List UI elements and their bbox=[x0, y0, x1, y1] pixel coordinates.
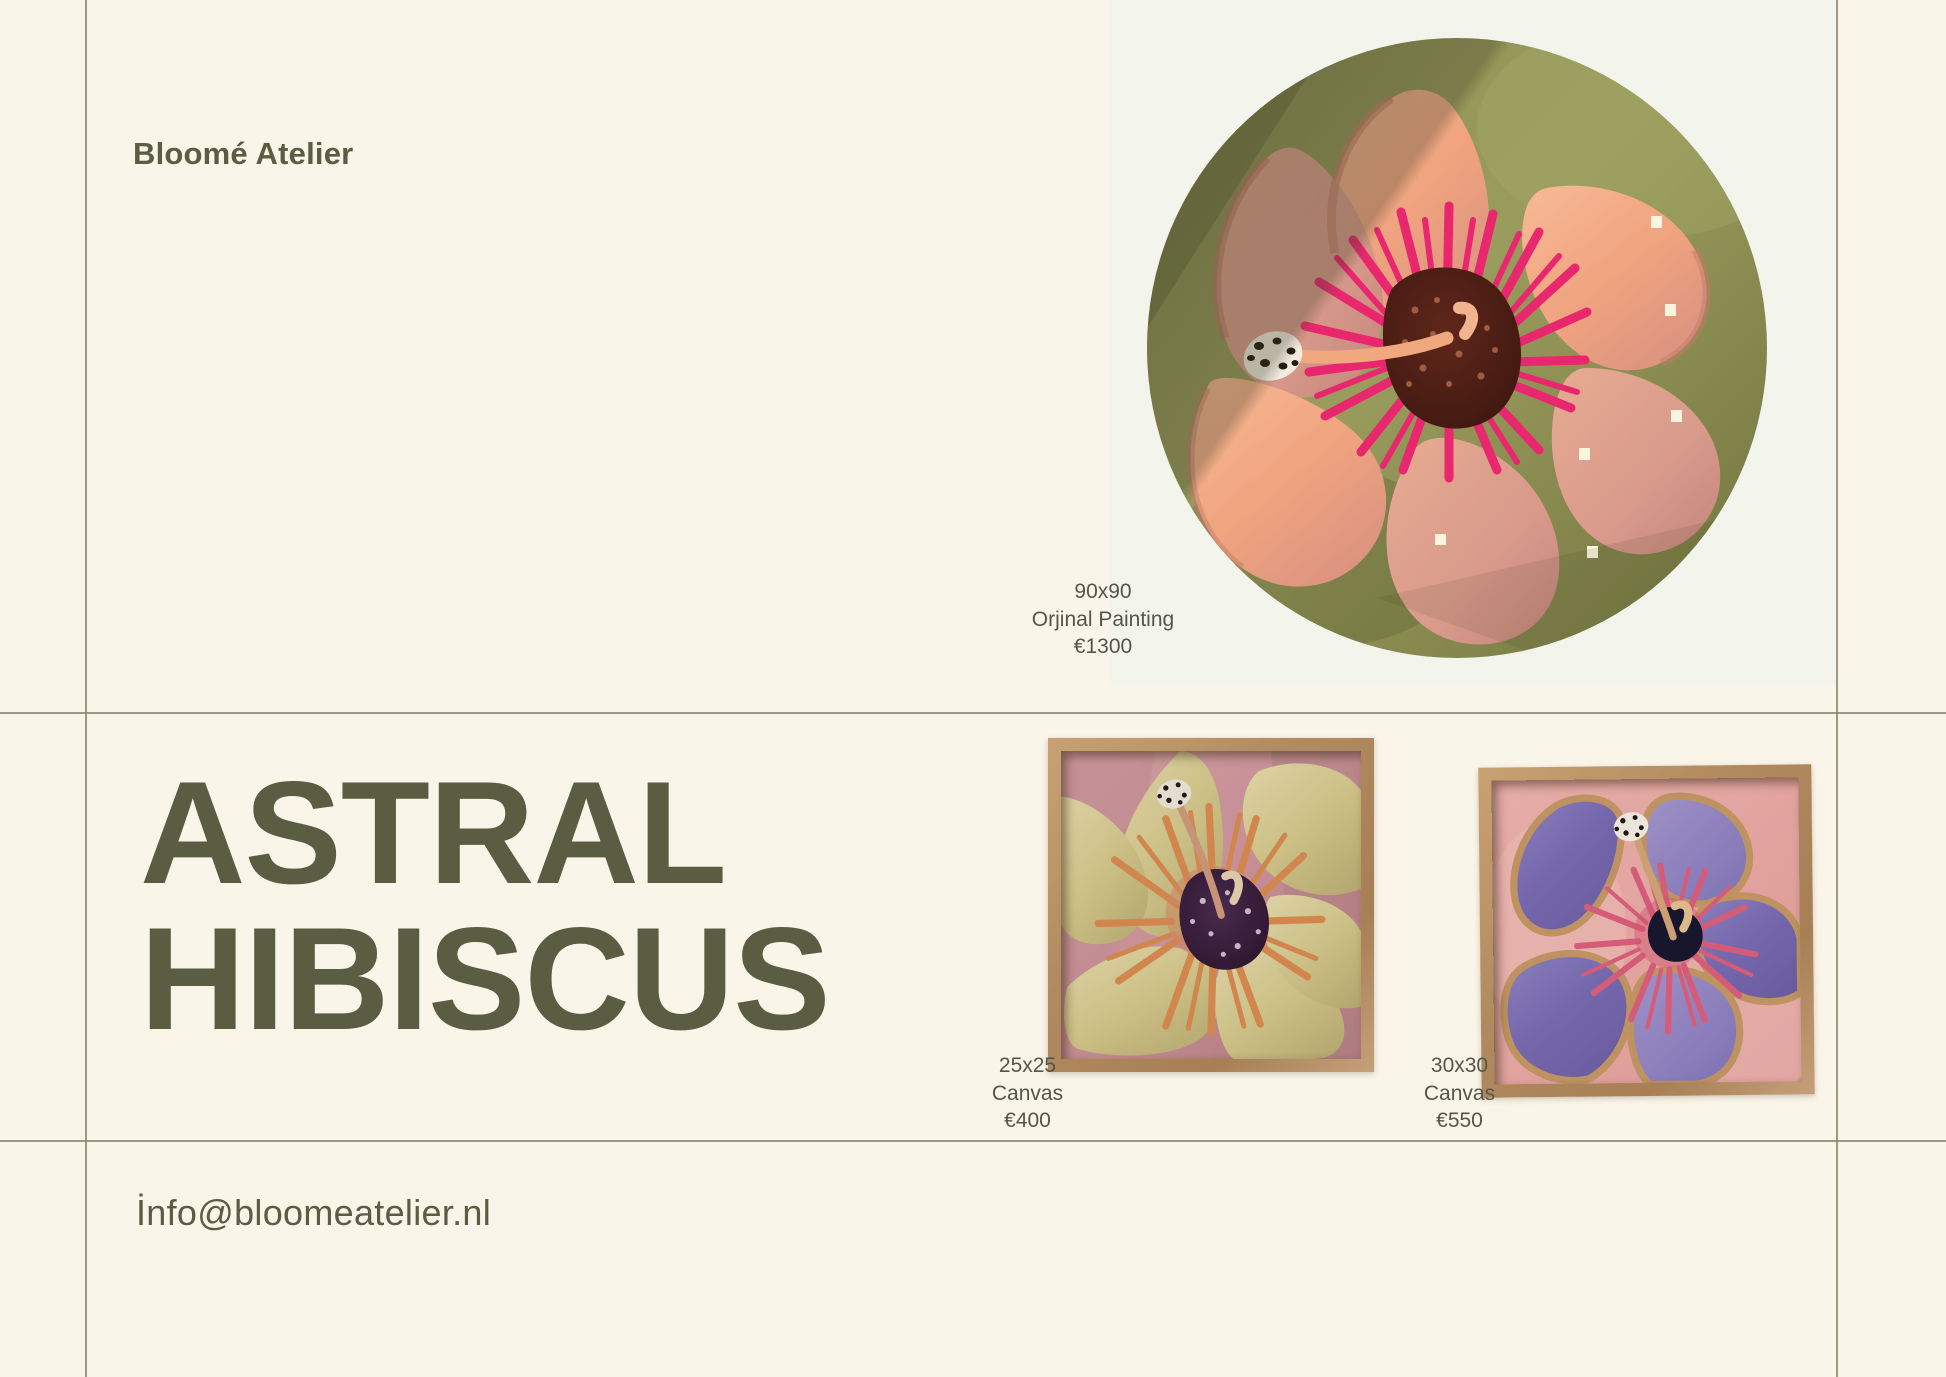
caption-medium-artwork: 30x30 Canvas €550 bbox=[1382, 1052, 1537, 1135]
page-title: ASTRAL HIBISCUS bbox=[140, 760, 830, 1052]
grid-rule-horizontal-bottom bbox=[0, 1140, 1946, 1142]
brand-name: Bloomé Atelier bbox=[133, 136, 353, 172]
caption-small-artwork: 25x25 Canvas €400 bbox=[950, 1052, 1105, 1135]
caption-medium: Canvas bbox=[950, 1080, 1105, 1108]
page-title-line-2: HIBISCUS bbox=[140, 906, 830, 1052]
caption-price: €400 bbox=[950, 1107, 1105, 1135]
cream-hibiscus-illustration bbox=[1061, 751, 1361, 1059]
poster-canvas: Bloomé Atelier bbox=[0, 0, 1946, 1377]
caption-size: 25x25 bbox=[950, 1052, 1105, 1080]
grid-rule-vertical-left bbox=[85, 0, 87, 1377]
contact-email[interactable]: İnfo@bloomeatelier.nl bbox=[136, 1192, 491, 1234]
caption-size: 30x30 bbox=[1382, 1052, 1537, 1080]
caption-size: 90x90 bbox=[1003, 578, 1203, 606]
caption-hero-artwork: 90x90 Orjinal Painting €1300 bbox=[1003, 578, 1203, 661]
frame-canvas bbox=[1061, 751, 1361, 1059]
artwork-hero-circular-hibiscus bbox=[1147, 38, 1767, 658]
caption-price: €1300 bbox=[1003, 633, 1203, 661]
caption-medium: Canvas bbox=[1382, 1080, 1537, 1108]
page-title-line-1: ASTRAL bbox=[140, 760, 830, 906]
caption-price: €550 bbox=[1382, 1107, 1537, 1135]
hero-hibiscus-illustration bbox=[1147, 38, 1767, 658]
artwork-framed-cream-hibiscus bbox=[1048, 738, 1374, 1072]
artwork-framed-violet-hibiscus bbox=[1478, 764, 1814, 1097]
violet-hibiscus-illustration bbox=[1491, 777, 1801, 1084]
caption-medium: Orjinal Painting bbox=[1003, 606, 1203, 634]
grid-rule-horizontal-top bbox=[0, 712, 1946, 714]
grid-rule-vertical-right bbox=[1836, 0, 1838, 1377]
frame-canvas bbox=[1491, 777, 1801, 1084]
